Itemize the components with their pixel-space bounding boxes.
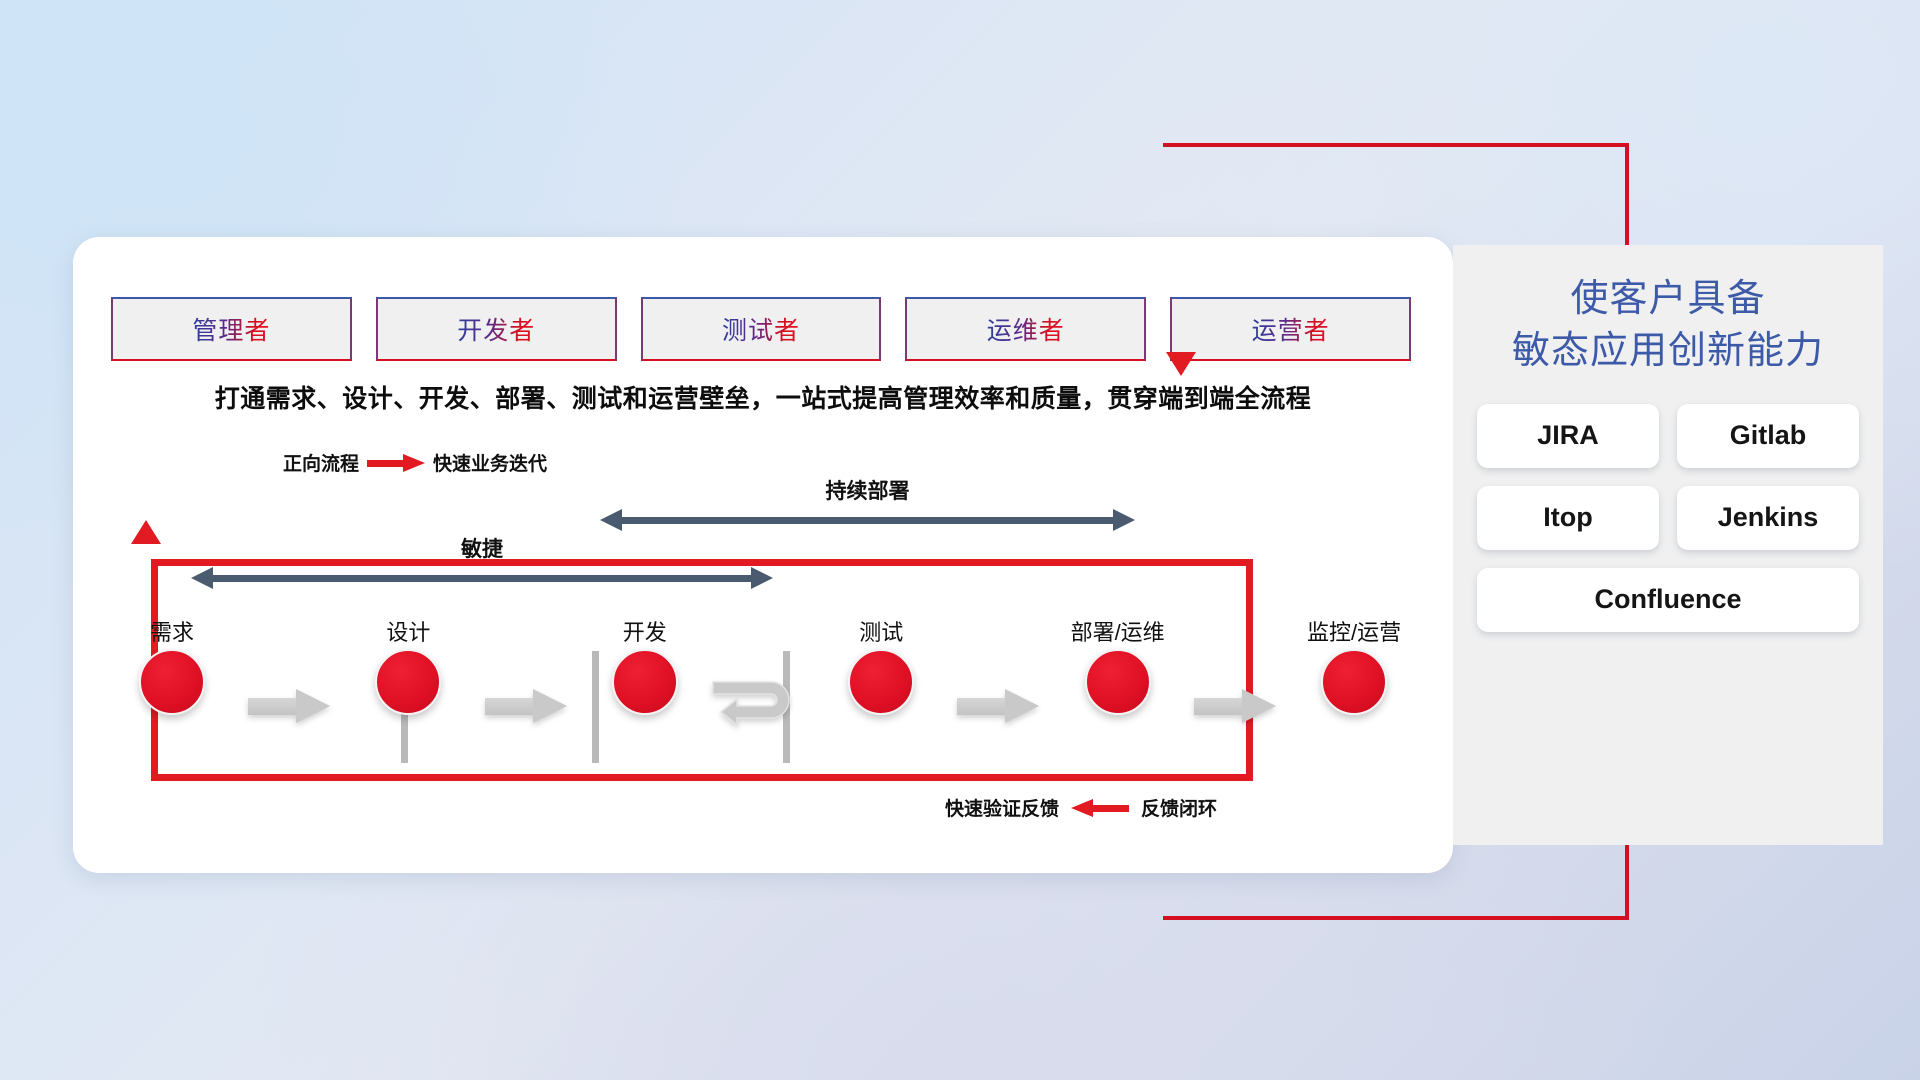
stage-dot-icon [375,649,441,715]
stage-dot-icon [1085,649,1151,715]
forward-flow-from-label: 正向流程 [283,449,359,476]
pipeline-connector [1177,615,1295,745]
role-box-developer[interactable]: 开发者 [376,297,617,361]
stage-dot-icon [139,649,205,715]
tool-chip-confluence[interactable]: Confluence [1477,568,1859,632]
role-box-manager[interactable]: 管理者 [111,297,352,361]
stage-dot-icon [1321,649,1387,715]
forward-flow-legend: 正向流程 快速业务迭代 [283,449,547,476]
role-box-ops[interactable]: 运维者 [905,297,1146,361]
loop-arrowhead-up-icon [131,520,161,544]
feedback-legend: 快速验证反馈 反馈闭环 [945,794,1217,821]
tool-chip-gitlab[interactable]: Gitlab [1677,404,1859,468]
pipeline-stage-monitor-operate[interactable]: 监控/运营 [1295,615,1413,715]
gray-arrow-right-icon [957,689,1041,723]
stage-label: 开发 [623,615,667,647]
continuous-deployment-span: 持续部署 [600,475,1135,531]
role-box-tester[interactable]: 测试者 [641,297,882,361]
loop-arrowhead-down-icon [1166,352,1196,376]
pipeline-stage-requirements[interactable]: 需求 [113,615,231,715]
role-label: 开发者 [457,311,535,347]
pipeline-connector-loop [704,615,822,745]
gray-arrow-right-icon [485,689,569,723]
double-arrow-icon [600,509,1135,531]
panel-title-line2: 敏态应用创新能力 [1477,325,1859,377]
role-label: 运维者 [987,311,1065,347]
gray-uturn-arrow-icon [711,673,815,735]
tool-chip-jira[interactable]: JIRA [1477,404,1659,468]
role-label: 运营者 [1252,311,1330,347]
stage-dot-icon [848,649,914,715]
tool-chip-jenkins[interactable]: Jenkins [1677,486,1859,550]
red-arrow-left-icon [1071,799,1129,817]
stage-label: 需求 [150,615,194,647]
pipeline-stage-design[interactable]: 设计 [349,615,467,715]
role-box-operations[interactable]: 运营者 [1170,297,1411,361]
role-label: 测试者 [722,311,800,347]
description-text: 打通需求、设计、开发、部署、测试和运营壁垒，一站式提高管理效率和质量，贯穿端到端… [73,379,1453,415]
pipeline-connector [467,615,585,745]
tool-chip-grid: JIRA Gitlab Itop Jenkins Confluence [1477,404,1859,632]
stage-label: 监控/运营 [1307,615,1401,647]
continuous-deployment-label: 持续部署 [600,475,1135,505]
feedback-from-label: 快速验证反馈 [945,794,1059,821]
arrow-head-right-icon [1113,509,1135,531]
panel-title-line1: 使客户具备 [1477,273,1859,325]
pipeline-stage-test[interactable]: 测试 [822,615,940,715]
role-boxes-row: 管理者 开发者 测试者 运维者 运营者 [111,297,1411,361]
panel-title: 使客户具备 敏态应用创新能力 [1477,273,1859,378]
role-label: 管理者 [192,311,270,347]
forward-flow-to-label: 快速业务迭代 [433,449,547,476]
stage-label: 测试 [859,615,903,647]
toolchain-panel: 使客户具备 敏态应用创新能力 JIRA Gitlab Itop Jenkins … [1453,245,1883,845]
pipeline-connector [231,615,349,745]
main-card: 管理者 开发者 测试者 运维者 运营者 打通需求、设计、开发、部署、测试和运营壁… [73,237,1453,873]
pipeline-stage-deploy-ops[interactable]: 部署/运维 [1059,615,1177,715]
stage-label: 设计 [386,615,430,647]
arrow-shaft [618,517,1117,524]
stage-label: 部署/运维 [1071,615,1165,647]
pipeline-connector [940,615,1058,745]
feedback-to-label: 反馈闭环 [1141,794,1217,821]
pipeline-row: 需求 设计 开发 测试 [113,615,1413,745]
stage-dot-icon [612,649,678,715]
pipeline-stage-develop[interactable]: 开发 [586,615,704,715]
gray-arrow-right-icon [248,689,332,723]
red-arrow-right-icon [367,454,425,472]
gray-arrow-right-icon [1194,689,1278,723]
tool-chip-itop[interactable]: Itop [1477,486,1659,550]
